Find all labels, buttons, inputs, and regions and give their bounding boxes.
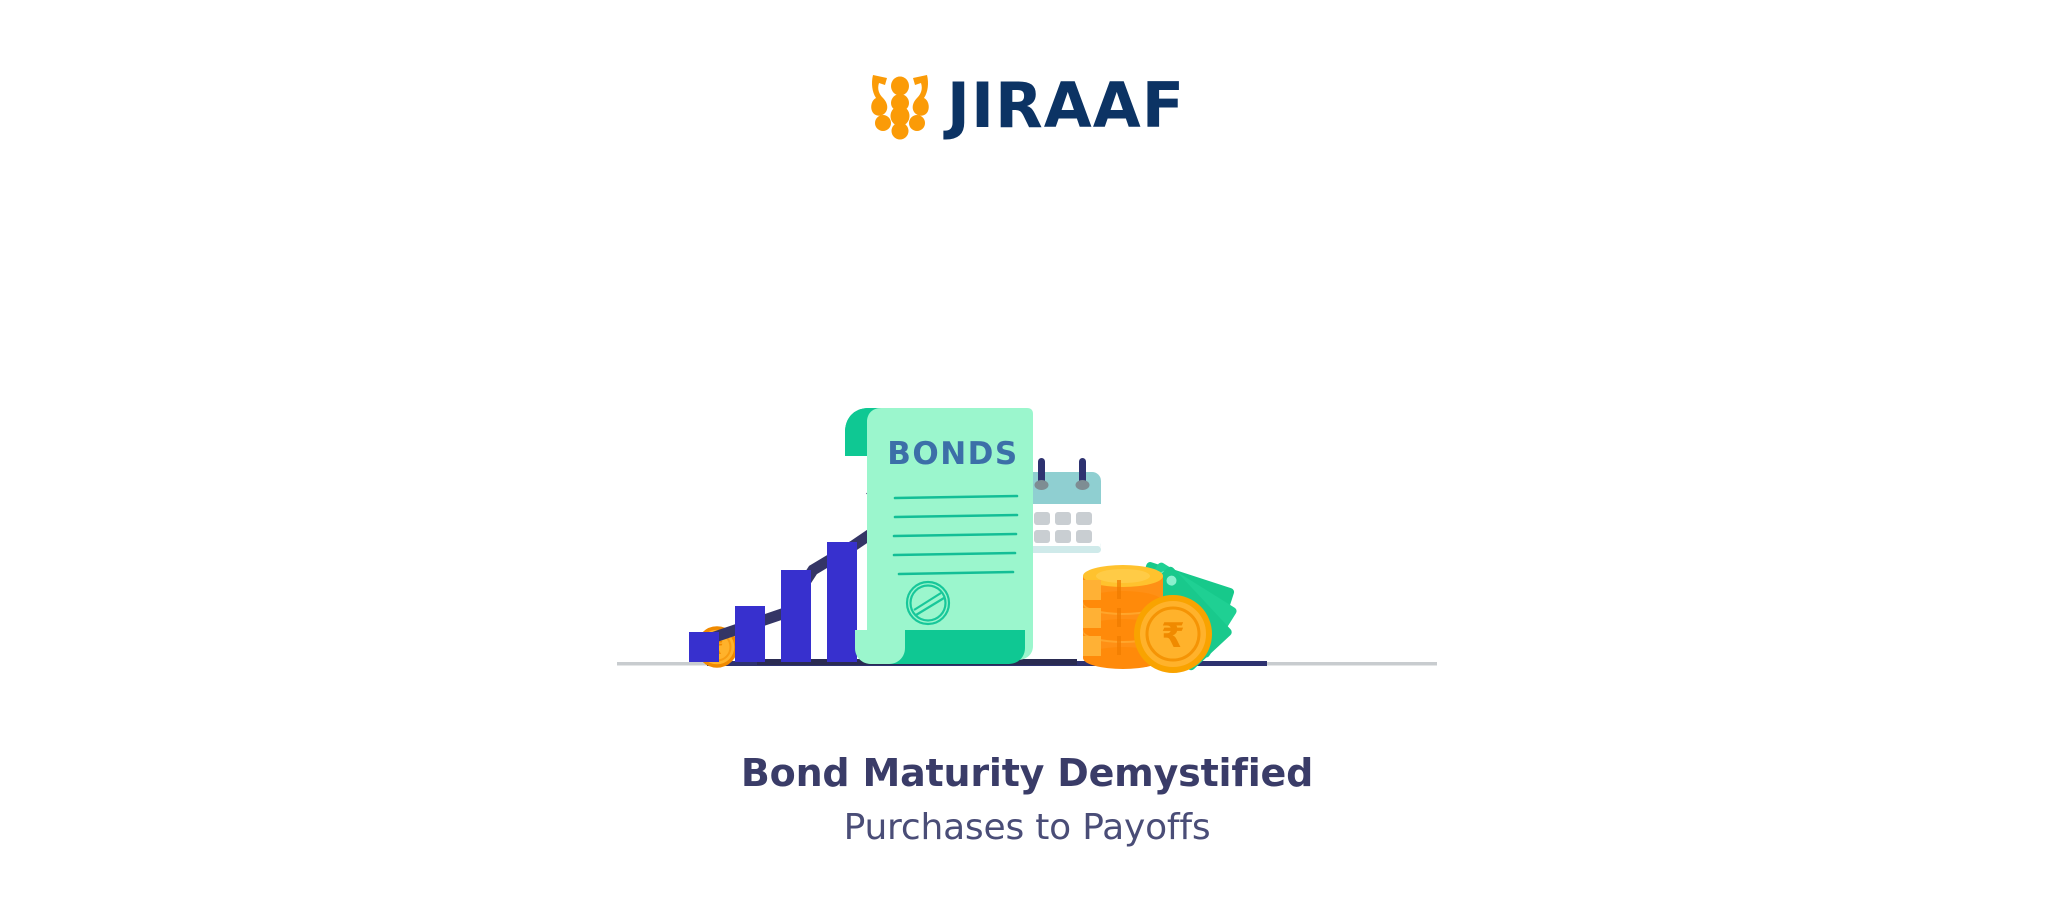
bond-maturity-illustration: ₹ <box>617 400 1437 700</box>
brand-wordmark: JIRAAF <box>947 75 1185 137</box>
page-root: JIRAAF ₹ <box>0 0 2054 900</box>
bonds-label: BONDS <box>887 436 1019 472</box>
money-group-icon: ₹ <box>1083 561 1238 672</box>
jiraaf-bull-logo-icon <box>869 72 931 140</box>
chart-bar <box>781 570 811 662</box>
svg-text:₹: ₹ <box>1161 616 1185 656</box>
chart-bar <box>689 632 719 662</box>
rupee-coin-icon: ₹ <box>1137 598 1209 670</box>
page-subtitle: Purchases to Payoffs <box>0 806 2054 849</box>
chart-bar <box>827 542 857 662</box>
caption-block: Bond Maturity Demystified Purchases to P… <box>0 752 2054 849</box>
chart-bar <box>735 606 765 662</box>
brand-header: JIRAAF <box>0 60 2054 152</box>
page-title: Bond Maturity Demystified <box>0 752 2054 796</box>
